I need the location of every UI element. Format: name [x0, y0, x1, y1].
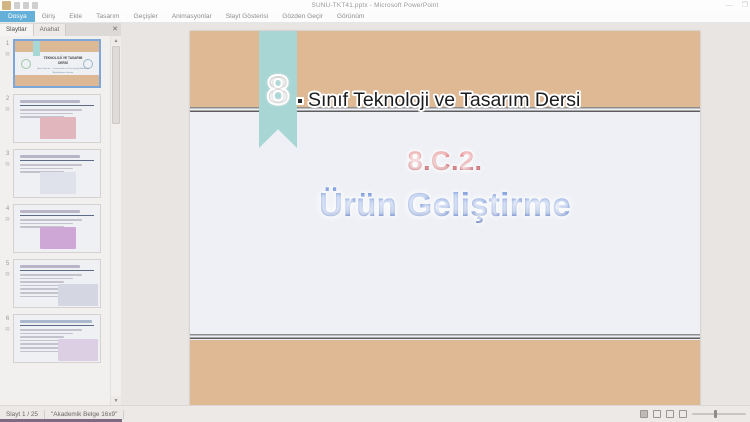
- thumbnail-note-icon: ▤: [2, 161, 13, 167]
- quick-access-toolbar[interactable]: [2, 0, 38, 11]
- thumbnail-number-value: 1: [6, 41, 9, 47]
- slide-thumbnail[interactable]: [13, 204, 101, 253]
- thumbnail-preview: [14, 150, 100, 197]
- zoom-slider-knob[interactable]: [714, 410, 717, 418]
- thumb-image: [58, 339, 98, 361]
- thumbnail-number: 4▤: [2, 204, 13, 221]
- tab-anahat[interactable]: Anahat: [34, 24, 67, 36]
- thumbnail-number: 2▤: [2, 94, 13, 111]
- slide-editor-canvas[interactable]: 8 Sınıf Teknoloji ve Tasarım Dersi 8.C.2…: [121, 23, 750, 405]
- slide-thumbnail-panel[interactable]: 1▤TEKNOLOJİ VE TASARIM DERSİÜnite Tanıtı…: [0, 36, 110, 405]
- thumbnail-row[interactable]: 1▤TEKNOLOJİ VE TASARIM DERSİÜnite Tanıtı…: [0, 36, 110, 91]
- slide-bottom-band: [190, 340, 700, 408]
- current-slide[interactable]: 8 Sınıf Teknoloji ve Tasarım Dersi 8.C.2…: [190, 31, 700, 408]
- thumb-text-line: [20, 223, 73, 225]
- thumb-title: TEKNOLOJİ VE TASARIM DERSİ: [41, 56, 85, 66]
- document-title: SUNU-TKT41.pptx - Microsoft PowerPoint: [312, 2, 439, 9]
- thumbnail-note-icon: ▤: [2, 106, 13, 112]
- thumbnail-number-value: 5: [6, 261, 9, 267]
- thumbnail-row[interactable]: 5▤: [0, 256, 110, 311]
- thumbnail-number-value: 4: [6, 206, 9, 212]
- thumbnail-row[interactable]: 6▤: [0, 311, 110, 366]
- scrollbar-thumb[interactable]: [112, 46, 120, 124]
- thumb-image: [58, 284, 98, 306]
- slide-thumbnail[interactable]: [13, 94, 101, 143]
- thumb-text-line: [20, 274, 82, 276]
- thumbnail-number: 6▤: [2, 314, 13, 331]
- thumbnail-row[interactable]: 4▤: [0, 201, 110, 256]
- thumb-text-line: [20, 281, 64, 283]
- thumbnail-number-value: 3: [6, 151, 9, 157]
- thumb-heading-bar: [20, 320, 92, 323]
- thumb-image: [40, 227, 76, 249]
- thumbnail-note-icon: ▤: [2, 271, 13, 277]
- slide-code-text: 8.C.2.: [190, 146, 700, 177]
- minimize-icon[interactable]: —: [726, 2, 733, 9]
- thumb-top-band: [15, 41, 99, 52]
- save-icon[interactable]: [2, 1, 11, 10]
- thumb-text-line: [20, 168, 73, 170]
- powerpoint-window: SUNU-TKT41.pptx - Microsoft PowerPoint —…: [0, 0, 750, 422]
- thumb-ribbon-tag: [33, 41, 40, 56]
- window-controls[interactable]: — ❐: [726, 0, 748, 11]
- thumb-heading-bar: [20, 155, 80, 158]
- scroll-up-icon[interactable]: ▲: [111, 36, 121, 45]
- thumbnail-number: 5▤: [2, 259, 13, 276]
- thumbnail-note-icon: ▤: [2, 326, 13, 332]
- thumbnail-preview: [14, 205, 100, 252]
- scroll-down-icon[interactable]: ▼: [111, 396, 121, 405]
- restore-icon[interactable]: ❐: [742, 2, 748, 9]
- slideshow-icon[interactable]: [679, 410, 687, 418]
- normal-view-icon[interactable]: [640, 410, 648, 418]
- thumb-text-line: [20, 336, 64, 338]
- status-divider: [123, 410, 124, 419]
- thumb-image: [40, 172, 76, 194]
- zoom-slider[interactable]: [692, 413, 746, 415]
- thumbnail-number-value: 6: [6, 316, 9, 322]
- thumb-text-line: [20, 109, 82, 111]
- slide-thumbnail[interactable]: [13, 259, 101, 308]
- thumbnail-preview: [14, 315, 100, 362]
- thumb-heading-bar: [20, 100, 80, 103]
- thumb-image: [40, 117, 76, 139]
- title-bar: SUNU-TKT41.pptx - Microsoft PowerPoint —…: [0, 0, 750, 11]
- thumbnail-preview: [14, 95, 100, 142]
- thumb-heading-bar: [20, 210, 80, 213]
- slide-header-text: Sınıf Teknoloji ve Tasarım Dersi: [308, 89, 690, 112]
- thumbnail-number: 3▤: [2, 149, 13, 166]
- thumbnail-note-icon: ▤: [2, 51, 13, 57]
- slide-thumbnail[interactable]: [13, 149, 101, 198]
- thumb-text-line: [20, 113, 73, 115]
- undo-icon[interactable]: [14, 2, 20, 9]
- close-icon[interactable]: ✕: [108, 24, 122, 36]
- grade-number-dot: [296, 97, 304, 105]
- thumb-heading-bar: [20, 265, 80, 268]
- panel-scrollbar[interactable]: ▲ ▼: [110, 36, 120, 405]
- thumb-text-line: [20, 333, 73, 335]
- thumbnail-row[interactable]: 3▤: [0, 146, 110, 201]
- reading-view-icon[interactable]: [666, 410, 674, 418]
- status-right-group[interactable]: [640, 410, 750, 418]
- thumbnail-preview: [14, 260, 100, 307]
- thumb-text-line: [20, 329, 82, 331]
- slide-sorter-icon[interactable]: [653, 410, 661, 418]
- thumb-text-line: [20, 164, 82, 166]
- thumb-heading-rule: [20, 325, 94, 326]
- grade-number: 8: [256, 69, 300, 111]
- thumb-text-line: [20, 219, 82, 221]
- thumb-text-line: [20, 278, 73, 280]
- thumbnail-number-value: 2: [6, 96, 9, 102]
- slide-thumbnail[interactable]: [13, 314, 101, 363]
- slide-topic-text: Ürün Geliştirme: [190, 186, 700, 224]
- slide-panel-tab-bar[interactable]: Slaytlar Anahat ✕: [0, 23, 122, 36]
- thumb-heading-rule: [20, 105, 94, 106]
- tab-slaytlar[interactable]: Slaytlar: [0, 24, 34, 36]
- thumb-subtitle: Ünite Tanıtımı — Kazanımlar ve Ders İçer…: [33, 68, 93, 75]
- thumb-badge-left-icon: [21, 59, 31, 69]
- thumb-bottom-band: [15, 75, 99, 86]
- slide-thumbnail[interactable]: TEKNOLOJİ VE TASARIM DERSİÜnite Tanıtımı…: [13, 39, 101, 88]
- customize-icon[interactable]: [32, 2, 38, 9]
- thumb-heading-rule: [20, 215, 94, 216]
- thumb-heading-rule: [20, 160, 94, 161]
- thumb-heading-rule: [20, 270, 94, 271]
- thumbnail-row[interactable]: 2▤: [0, 91, 110, 146]
- thumbnail-preview: TEKNOLOJİ VE TASARIM DERSİÜnite Tanıtımı…: [15, 41, 99, 86]
- thumbnail-number: 1▤: [2, 39, 13, 56]
- redo-icon[interactable]: [23, 2, 29, 9]
- thumbnail-note-icon: ▤: [2, 216, 13, 222]
